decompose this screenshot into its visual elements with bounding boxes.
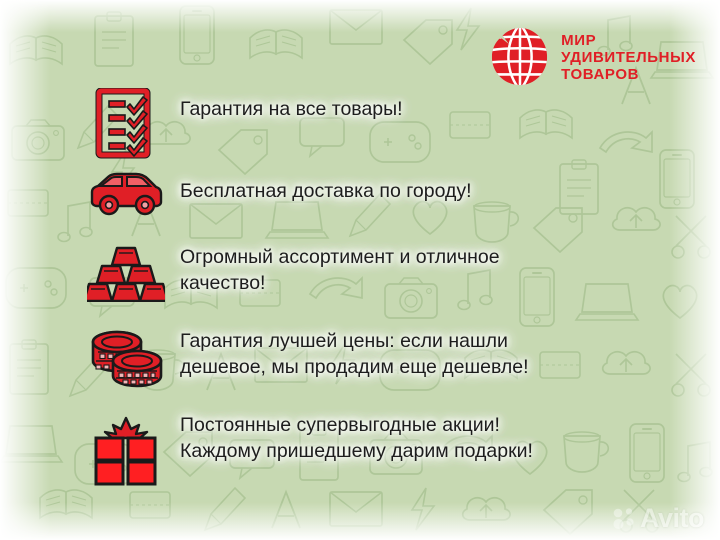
car-icon: [72, 168, 180, 218]
promo-poster: МИР УДИВИТЕЛЬНЫХ ТОВАРОВ: [0, 0, 720, 540]
brand-line-3: ТОВАРОВ: [561, 66, 696, 83]
brand-line-1: МИР: [561, 32, 696, 49]
feature-text: Бесплатная доставка по городу!: [180, 168, 642, 204]
gift-icon: [72, 410, 180, 486]
feature-line: качество!: [180, 270, 642, 296]
feature-text: Постоянные супервыгодные акции! Каждому …: [180, 410, 642, 464]
feature-line: Гарантия на все товары!: [180, 96, 642, 122]
feature-item: Огромный ассортимент и отличное качество…: [72, 242, 642, 318]
checklist-icon: [72, 86, 180, 160]
feature-line: Каждому пришедшему дарим подарки!: [180, 438, 642, 464]
brand-name: МИР УДИВИТЕЛЬНЫХ ТОВАРОВ: [561, 32, 696, 83]
avito-wordmark: Avito: [640, 505, 704, 532]
brand-line-2: УДИВИТЕЛЬНЫХ: [561, 49, 696, 66]
feature-text: Гарантия лучшей цены: если нашли дешевое…: [180, 326, 642, 380]
brand-logo: МИР УДИВИТЕЛЬНЫХ ТОВАРОВ: [489, 26, 696, 88]
gold-bars-icon: [72, 242, 180, 302]
globe-icon: [489, 26, 551, 88]
avito-dots-icon: [613, 507, 635, 531]
feature-line: Постоянные супервыгодные акции!: [180, 412, 642, 438]
avito-watermark: Avito: [613, 505, 704, 532]
feature-item: Постоянные супервыгодные акции! Каждому …: [72, 410, 642, 488]
feature-line: дешевое, мы продадим еще дешевле!: [180, 354, 642, 380]
feature-item: Гарантия на все товары!: [72, 86, 642, 160]
coins-icon: [72, 326, 180, 390]
feature-line: Огромный ассортимент и отличное: [180, 244, 642, 270]
feature-line: Бесплатная доставка по городу!: [180, 178, 642, 204]
feature-list: Гарантия на все товары! Бесплатная доста…: [72, 86, 642, 496]
feature-line: Гарантия лучшей цены: если нашли: [180, 328, 642, 354]
feature-text: Огромный ассортимент и отличное качество…: [180, 242, 642, 296]
feature-item: Гарантия лучшей цены: если нашли дешевое…: [72, 326, 642, 402]
feature-text: Гарантия на все товары!: [180, 86, 642, 122]
feature-item: Бесплатная доставка по городу!: [72, 168, 642, 234]
